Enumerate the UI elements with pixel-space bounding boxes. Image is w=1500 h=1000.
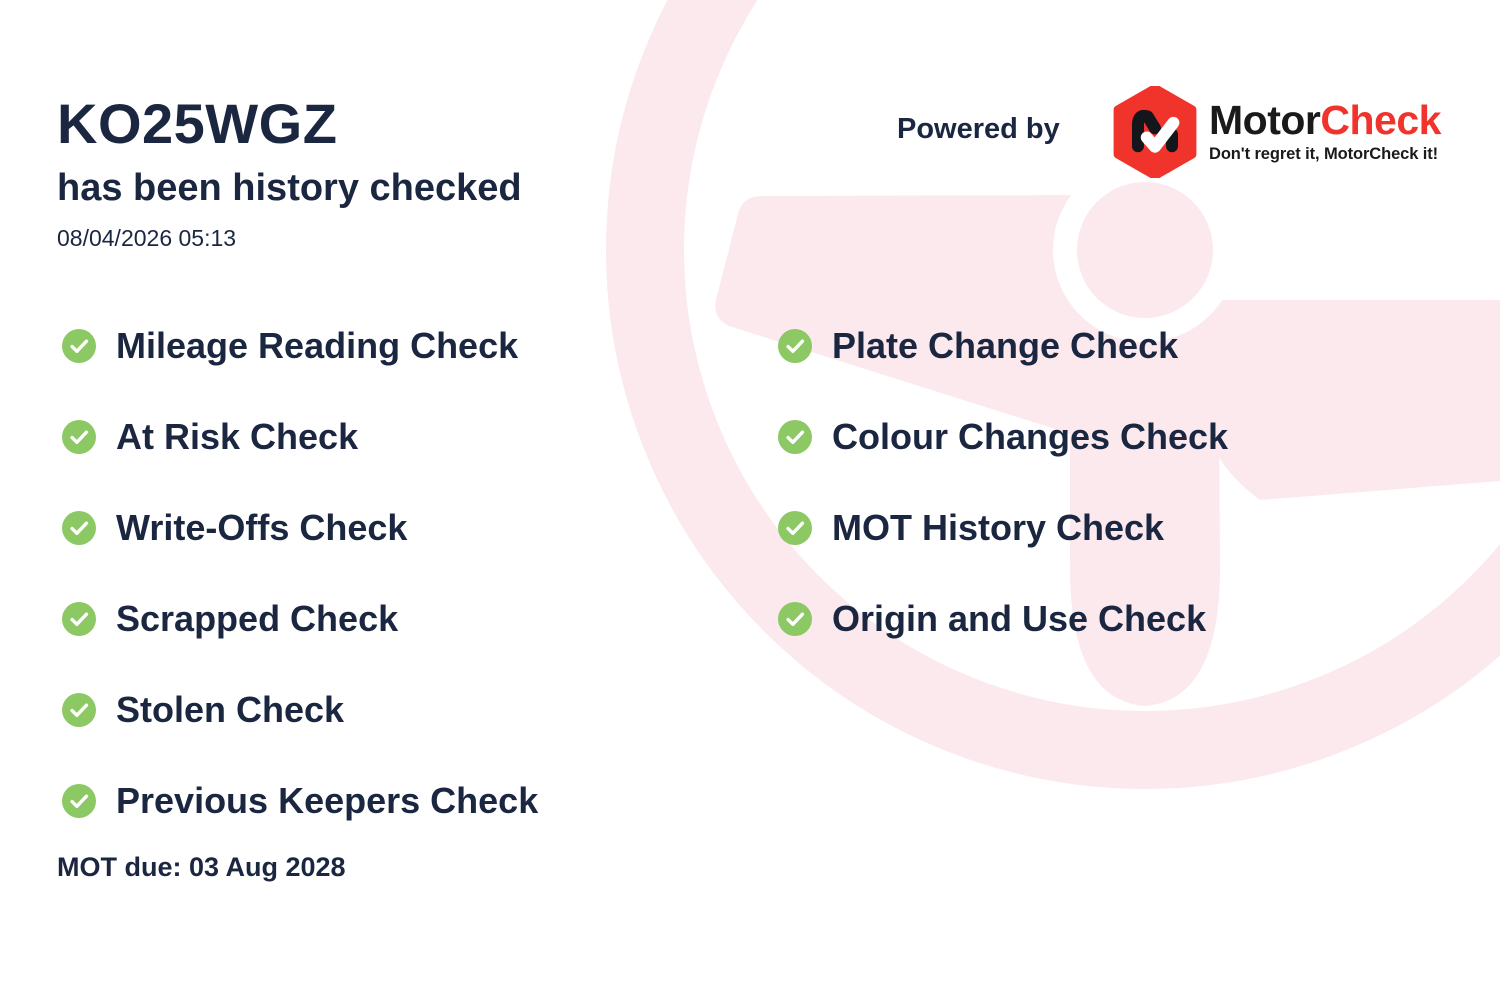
green-check-circle-icon [62,420,96,454]
check-item: At Risk Check [62,391,538,482]
check-item: MOT History Check [778,482,1228,573]
check-item: Colour Changes Check [778,391,1228,482]
motorcheck-logo[interactable]: MotorCheck Don't regret it, MotorCheck i… [1109,86,1441,178]
check-item: Plate Change Check [778,300,1228,391]
check-item: Previous Keepers Check [62,755,538,846]
green-check-circle-icon [778,329,812,363]
motorcheck-hexagon-logo-icon [1109,86,1201,178]
check-item: Stolen Check [62,664,538,755]
green-check-circle-icon [778,511,812,545]
check-item-label: Scrapped Check [116,601,398,637]
check-item: Origin and Use Check [778,573,1228,664]
check-timestamp: 08/04/2026 05:13 [57,226,236,251]
mot-due-date: MOT due: 03 Aug 2028 [57,852,346,883]
green-check-circle-icon [62,511,96,545]
green-check-circle-icon [778,420,812,454]
checklist-column-right: Plate Change Check Colour Changes Check … [778,300,1228,664]
check-item-label: At Risk Check [116,419,358,455]
green-check-circle-icon [62,784,96,818]
page-title: has been history checked [57,168,522,210]
motorcheck-wordmark: MotorCheck [1209,100,1441,141]
registration-plate: KO25WGZ [57,96,337,152]
check-item-label: Plate Change Check [832,328,1178,364]
check-item: Write-Offs Check [62,482,538,573]
green-check-circle-icon [778,602,812,636]
share-card: KO25WGZ has been history checked 08/04/2… [0,0,1500,1000]
check-item: Mileage Reading Check [62,300,538,391]
check-item: Scrapped Check [62,573,538,664]
brand-tagline: Don't regret it, MotorCheck it! [1209,145,1441,164]
check-item-label: Origin and Use Check [832,601,1206,637]
checklist-column-left: Mileage Reading Check At Risk Check Writ… [62,300,538,846]
check-item-label: Colour Changes Check [832,419,1228,455]
wordmark-check: Check [1320,97,1441,143]
green-check-circle-icon [62,602,96,636]
wordmark-motor: Motor [1209,97,1320,143]
check-item-label: Previous Keepers Check [116,783,538,819]
check-item-label: MOT History Check [832,510,1164,546]
green-check-circle-icon [62,329,96,363]
green-check-circle-icon [62,693,96,727]
check-item-label: Write-Offs Check [116,510,407,546]
powered-by-label: Powered by [897,113,1060,146]
check-item-label: Mileage Reading Check [116,328,518,364]
check-item-label: Stolen Check [116,692,344,728]
